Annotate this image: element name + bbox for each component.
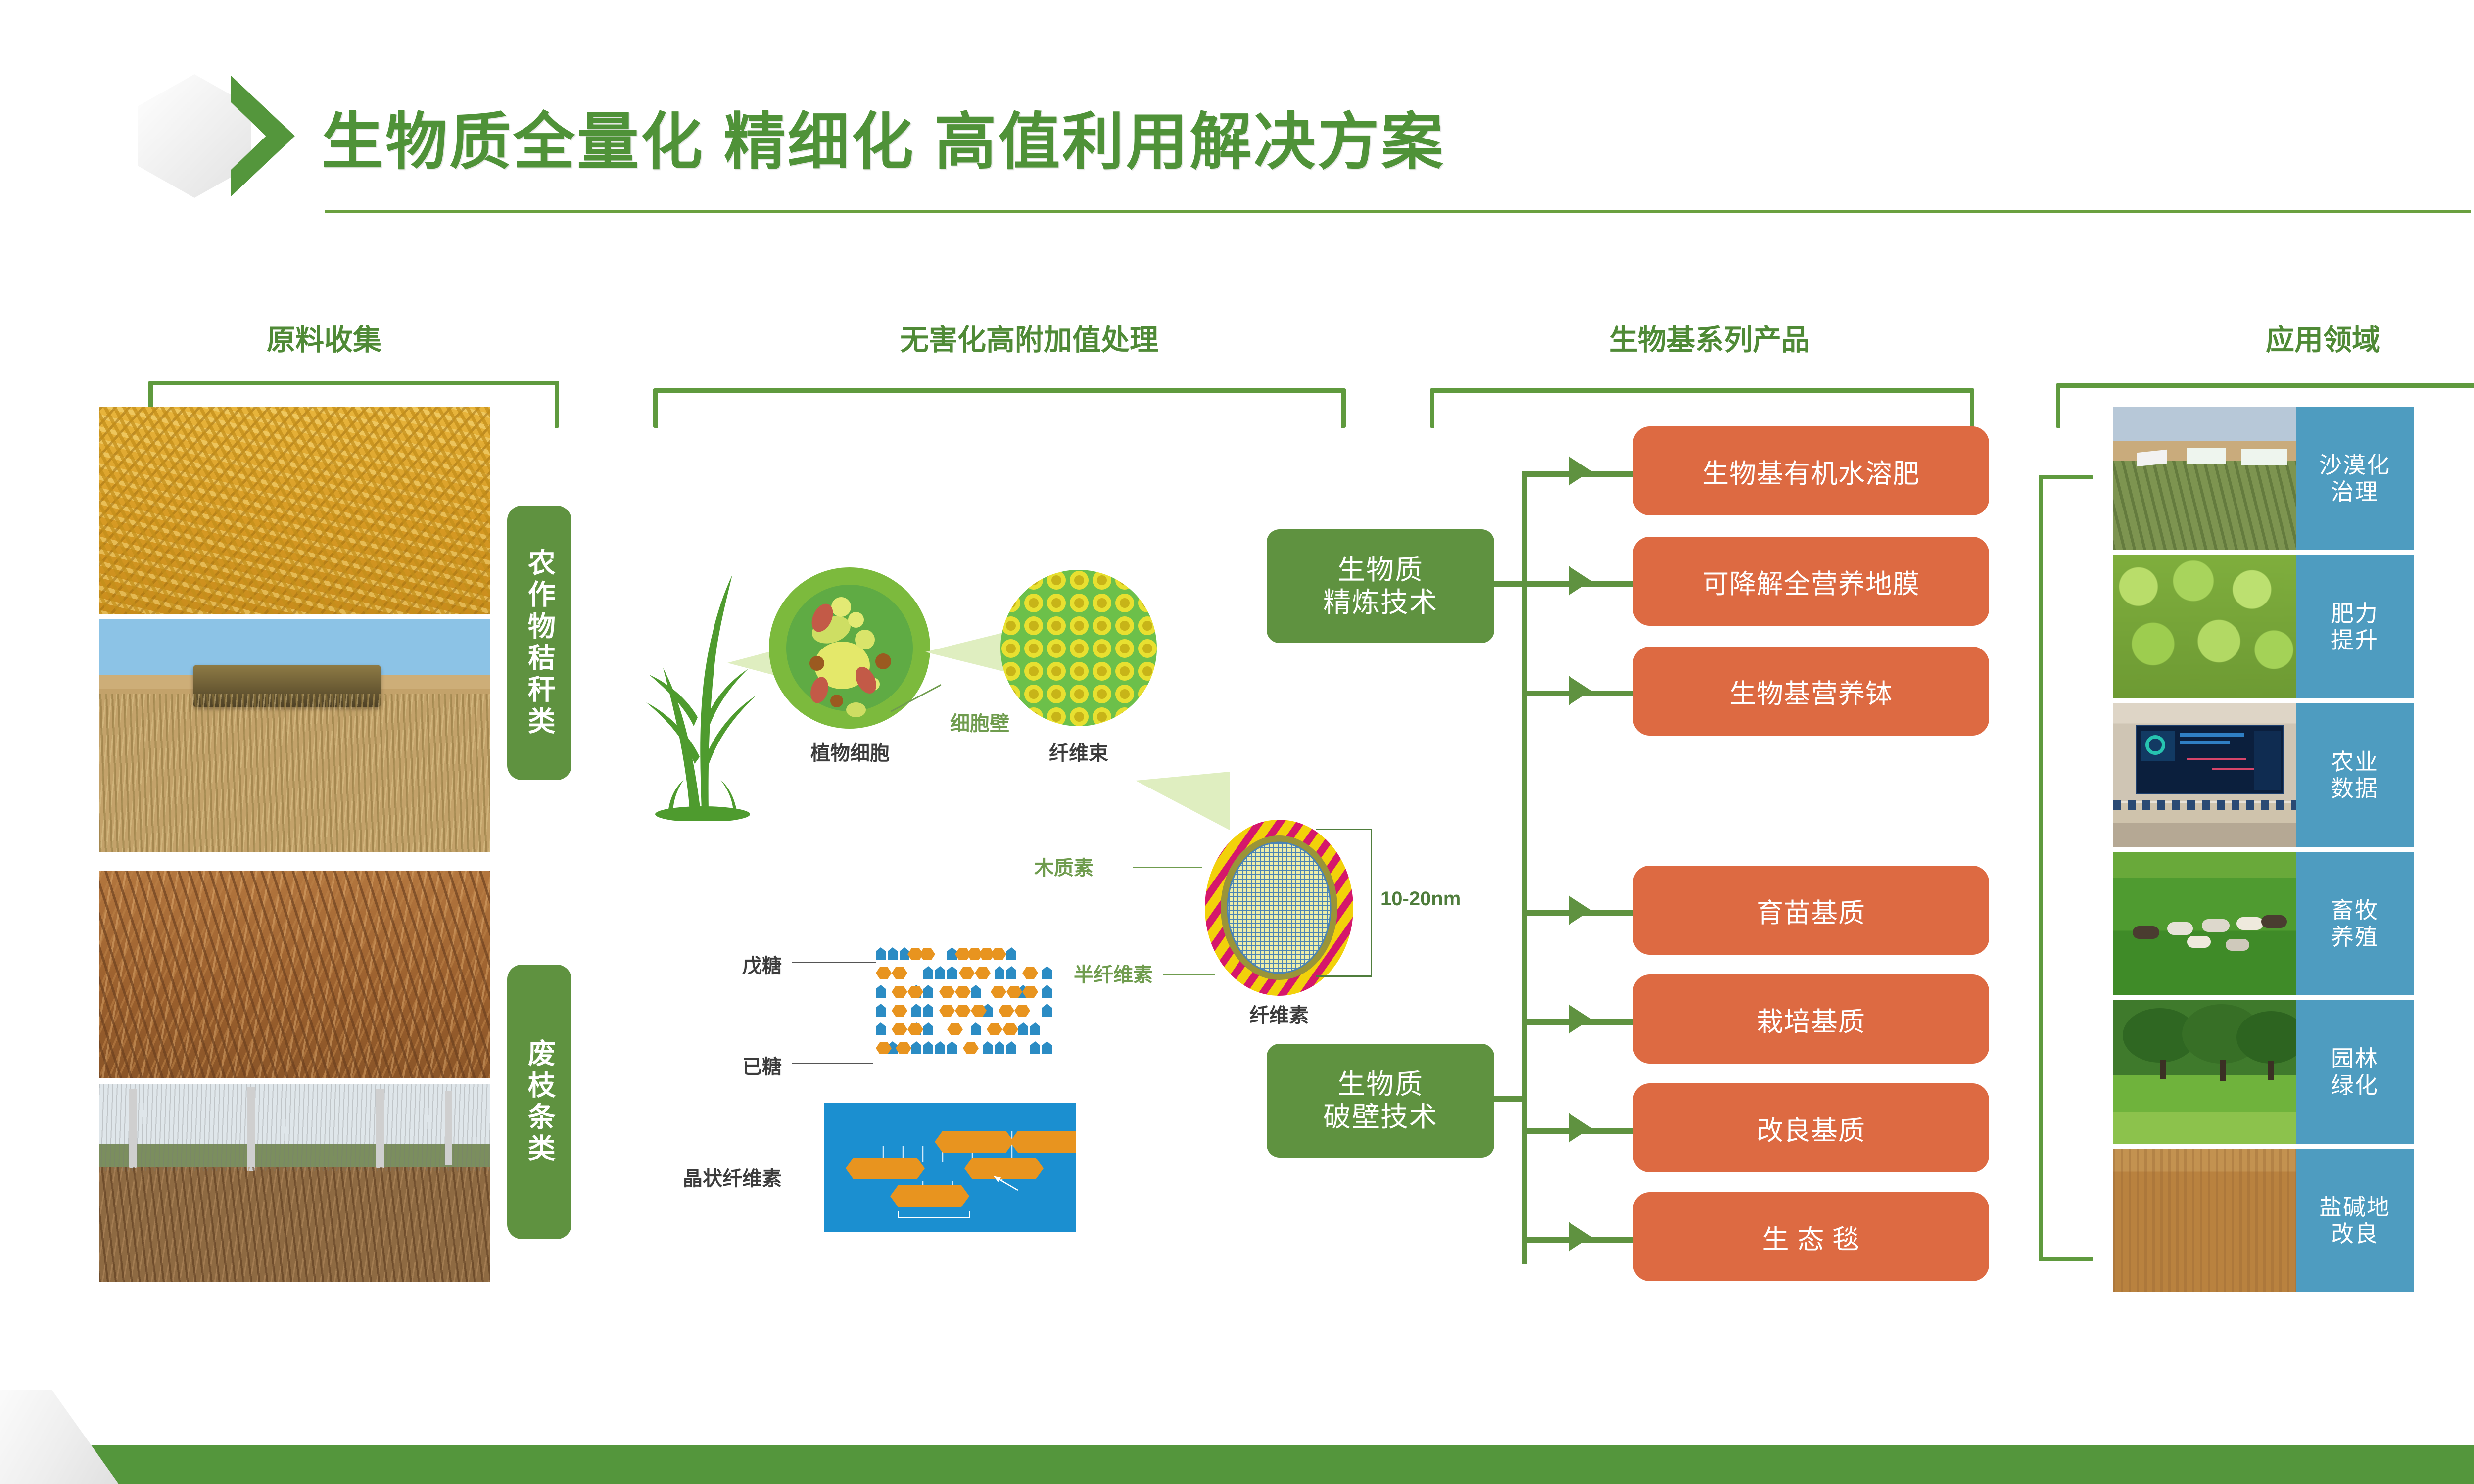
plant-cell-label: 植物细胞 [810,737,890,766]
arrowhead-wallbreak-3 [1569,1113,1591,1143]
data-control-room-photo [2113,703,2296,847]
application-tag-desert: 沙漠化 治理 [2296,407,2414,550]
dimension-tick-bottom [1316,975,1372,977]
product-pill-water-soluble-fertilizer[interactable]: 生物基有机水溶肥 [1633,426,1989,515]
orchard-pruning-photo [99,1084,490,1282]
app-tag-line-2: 治理 [2331,478,2379,505]
hemicellulose-leader-line [1163,974,1215,975]
park-trees-photo [2113,1000,2296,1144]
category-label-waste-branches: 废枝条类 [507,965,571,1239]
arrowhead-wallbreak-1 [1569,895,1591,925]
application-row-landscape[interactable]: 园林 绿化 [2113,1000,2414,1144]
lignin-leader-line [1133,867,1202,868]
page-title: 生物质全量化 精细化 高值利用解决方案 [322,92,1445,181]
arrowhead-refining-2 [1569,566,1591,596]
connector-wallbreak-stub [1494,1096,1524,1102]
app-tag-line-2: 改良 [2331,1220,2379,1247]
lignin-label: 木质素 [1034,852,1094,881]
hexose-label: 已糖 [742,1051,782,1079]
bare-soil-photo [2113,1149,2296,1292]
app-tag-line-1: 园林 [2331,1045,2379,1072]
app-tag-line-2: 提升 [2331,627,2379,653]
fiber-bundle-illustration [999,569,1158,727]
cellulose-cross-section-illustration [1197,816,1361,999]
sheep-grazing-photo [2113,852,2296,995]
bracket-products [1430,388,1974,428]
corn-stalk-field-photo [99,407,490,614]
dimension-tick-top [1316,829,1372,830]
category-label-crop-straw: 农作物秸秆类 [507,506,571,780]
product-pill-seedling-substrate[interactable]: 育苗基质 [1633,866,1989,955]
footer-wedge-decoration [0,1390,119,1484]
app-tag-line-2: 数据 [2331,775,2379,802]
tech-line-1: 生物质 [1337,1068,1424,1101]
dry-branches-photo [99,871,490,1078]
application-row-saline[interactable]: 盐碱地 改良 [2113,1149,2414,1292]
connector-refining-stub [1494,581,1524,587]
section-header-collection: 原料收集 [267,317,381,358]
app-tag-line-1: 沙漠化 [2319,452,2390,478]
application-tag-landscape: 园林 绿化 [2296,1000,2414,1144]
app-tag-line-1: 肥力 [2331,600,2379,627]
desert-restoration-photo [2113,407,2296,550]
straw-bale-field-photo [99,619,490,852]
sugar-chain-illustration [876,947,1113,1071]
application-row-livestock[interactable]: 畜牧 养殖 [2113,852,2414,995]
bracket-application-group [2039,475,2093,1261]
tech-box-refining[interactable]: 生物质 精炼技术 [1267,529,1494,643]
plant-cell-illustration [768,566,931,730]
tech-line-2: 破壁技术 [1323,1101,1438,1133]
application-tag-livestock: 畜牧 养殖 [2296,852,2414,995]
pentose-label: 戊糖 [742,950,782,978]
pentose-leader-line [792,962,876,963]
title-divider [325,210,2471,213]
dimension-line [1371,829,1372,977]
bracket-processing [653,388,1346,428]
arrowhead-wallbreak-4 [1569,1222,1591,1252]
app-tag-line-1: 农业 [2331,748,2379,775]
fiber-bundle-label: 纤维束 [1049,737,1108,766]
crystalline-cellulose-label: 晶状纤维素 [683,1162,782,1191]
crystalline-cellulose-panel [824,1103,1076,1232]
product-pill-improvement-substrate[interactable]: 改良基质 [1633,1083,1989,1172]
app-tag-line-1: 盐碱地 [2319,1194,2390,1220]
app-tag-line-1: 畜牧 [2331,897,2379,924]
section-header-products: 生物基系列产品 [1609,317,1810,358]
dimension-value-label: 10-20nm [1380,888,1461,910]
product-pill-nutrient-pot[interactable]: 生物基营养钵 [1633,647,1989,736]
arrowhead-refining-1 [1569,456,1591,486]
product-pill-degradable-mulch-film[interactable]: 可降解全营养地膜 [1633,537,1989,626]
app-tag-line-2: 养殖 [2331,924,2379,950]
application-row-fertility[interactable]: 肥力 提升 [2113,555,2414,698]
arrowhead-wallbreak-2 [1569,1004,1591,1034]
section-header-processing: 无害化高附加值处理 [900,317,1158,358]
hexose-leader-line [792,1063,873,1064]
arrowhead-refining-3 [1569,676,1591,705]
tech-line-2: 精炼技术 [1323,586,1438,619]
application-row-data[interactable]: 农业 数据 [2113,703,2414,847]
section-header-applications: 应用领域 [2266,317,2380,358]
page-header: 生物质全量化 精细化 高值利用解决方案 [0,0,2474,237]
cellulose-label: 纤维素 [1249,999,1309,1028]
tech-line-1: 生物质 [1337,554,1424,586]
application-row-desert[interactable]: 沙漠化 治理 [2113,407,2414,550]
cabbage-field-photo [2113,555,2296,698]
application-tag-fertility: 肥力 提升 [2296,555,2414,698]
app-tag-line-2: 绿化 [2331,1072,2379,1099]
application-tag-saline: 盐碱地 改良 [2296,1149,2414,1292]
tech-box-wallbreak[interactable]: 生物质 破壁技术 [1267,1044,1494,1158]
application-tag-data: 农业 数据 [2296,703,2414,847]
connector-wallbreak-spine [1522,913,1527,1264]
product-pill-ecological-blanket[interactable]: 生 态 毯 [1633,1192,1989,1281]
footer-bar [0,1445,2474,1484]
product-pill-cultivation-substrate[interactable]: 栽培基质 [1633,974,1989,1064]
